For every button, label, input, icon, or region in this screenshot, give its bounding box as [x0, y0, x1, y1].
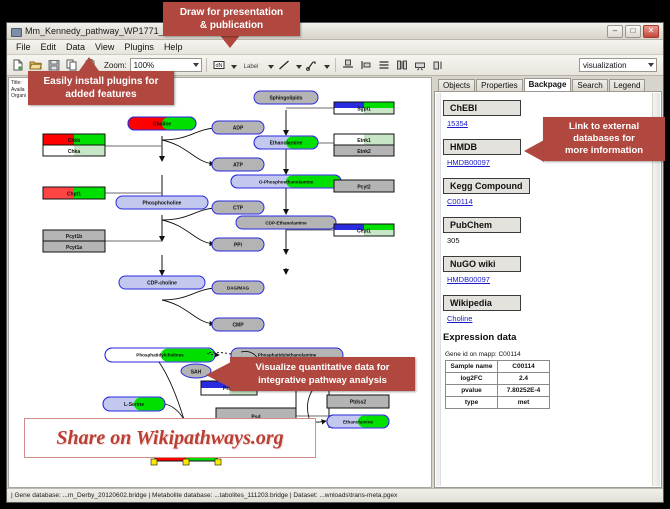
- window-titlebar: Mm_Kennedy_pathway_WP1771_45176.gpml – □…: [7, 23, 663, 40]
- svg-text:O-Phosphoethanolamine: O-Phosphoethanolamine: [259, 179, 314, 184]
- callout-visualize-line1: Visualize quantitative data for: [237, 361, 408, 374]
- tab-backpage[interactable]: Backpage: [524, 78, 572, 91]
- node-l-serine-left: L-Serine: [103, 397, 165, 411]
- db-section-pubchem: PubChem 305: [443, 215, 661, 245]
- svg-text:PPi: PPi: [234, 243, 243, 249]
- zoom-combo[interactable]: 100%: [130, 58, 202, 72]
- datanode-icon[interactable]: dN: [211, 57, 228, 74]
- backpage-left-rail: [436, 93, 441, 486]
- datanode-dropdown-icon[interactable]: [229, 57, 238, 74]
- node-atp: ATP: [212, 158, 264, 171]
- exp-value-sample: C00114: [498, 361, 550, 373]
- svg-text:Sphingolipids: Sphingolipids: [269, 96, 302, 102]
- svg-text:L-Serine: L-Serine: [124, 402, 144, 408]
- label-dropdown-icon[interactable]: [266, 57, 275, 74]
- callout-links-line2: databases for: [550, 133, 658, 145]
- node-cept1: Cept1: [334, 224, 394, 236]
- visualization-combo[interactable]: visualization: [579, 58, 657, 72]
- node-cmp: CMP: [212, 318, 264, 331]
- node-ethanolamine-top: Ethanolamine: [254, 136, 318, 149]
- db-value-pubchem: 305: [447, 236, 661, 245]
- share-banner-text: Share on Wikipathways.org: [56, 427, 283, 450]
- svg-text:Choline: Choline: [153, 122, 172, 128]
- zoom-value: 100%: [134, 61, 154, 70]
- zoom-label: Zoom:: [104, 61, 127, 70]
- interaction-icon[interactable]: [304, 57, 321, 74]
- statusbar: | Gene database: ...m_Derby_20120602.bri…: [7, 488, 663, 502]
- expression-data-title: Expression data: [443, 332, 661, 343]
- callout-plugins: Easily install plugins for added feature…: [28, 71, 174, 105]
- line-dropdown-icon[interactable]: [294, 57, 303, 74]
- callout-draw-line1: Draw for presentation: [170, 6, 293, 19]
- svg-text:Pcyt1b: Pcyt1b: [66, 234, 82, 240]
- align-left-icon[interactable]: [358, 57, 375, 74]
- svg-text:Ethanolamine: Ethanolamine: [270, 141, 303, 147]
- menu-help[interactable]: Help: [159, 41, 188, 53]
- table-row: pvalue 7.80252E-4: [446, 385, 550, 397]
- tab-legend[interactable]: Legend: [609, 79, 646, 91]
- node-adp: ADP: [212, 121, 264, 134]
- toolbar-divider-2: [335, 58, 336, 72]
- align-top-icon[interactable]: [340, 57, 357, 74]
- exp-label-sample: Sample name: [446, 361, 498, 373]
- expression-table: Sample name C00114 log2FC 2.4 pvalue 7.8…: [445, 360, 550, 409]
- visualization-value: visualization: [583, 61, 627, 70]
- exp-label-type: type: [446, 397, 498, 409]
- node-ppi: PPi: [212, 238, 264, 251]
- new-file-icon[interactable]: [10, 57, 27, 74]
- chevron-down-icon: [193, 63, 199, 67]
- callout-links-line1: Link to external: [550, 121, 658, 133]
- svg-text:dN: dN: [215, 63, 222, 69]
- close-button[interactable]: ✕: [643, 25, 659, 38]
- callout-visualize: Visualize quantitative data for integrat…: [230, 357, 415, 391]
- db-link-wikipedia[interactable]: Choline: [447, 314, 661, 323]
- svg-text:Sgpl1: Sgpl1: [357, 107, 371, 113]
- svg-text:Etnk2: Etnk2: [357, 149, 371, 155]
- callout-draw: Draw for presentation & publication: [163, 2, 300, 36]
- node-pcyt2: Pcyt2: [334, 180, 394, 192]
- size-height-icon[interactable]: [430, 57, 447, 74]
- exp-value-pvalue: 7.80252E-4: [498, 385, 550, 397]
- node-etnk2: Etnk2: [334, 145, 394, 156]
- callout-plugins-line1: Easily install plugins for: [35, 75, 167, 88]
- status-text: | Gene database: ...m_Derby_20120602.bri…: [11, 492, 397, 499]
- svg-text:Pcyt1a: Pcyt1a: [66, 245, 82, 251]
- callout-plugins-line2: added features: [35, 88, 167, 101]
- callout-visualize-arrow-icon: [206, 362, 231, 388]
- node-phosphatidylcholines: Phosphatidylcholines: [105, 348, 215, 362]
- node-cdp-ethanolamine: CDP-Ethanolamine: [236, 216, 336, 229]
- svg-text:SAH: SAH: [191, 370, 202, 376]
- node-dag-mag: DAG/MAG: [212, 281, 264, 294]
- svg-text:Chka: Chka: [68, 149, 80, 155]
- svg-text:Phosphatidylcholines: Phosphatidylcholines: [136, 353, 184, 358]
- node-chkb: Chkb: [43, 134, 105, 145]
- svg-text:Chpt1: Chpt1: [67, 192, 81, 198]
- svg-text:Chkb: Chkb: [68, 138, 81, 144]
- svg-text:ADP: ADP: [233, 126, 244, 132]
- table-row: log2FC 2.4: [446, 373, 550, 385]
- exp-value-log2fc: 2.4: [498, 373, 550, 385]
- exp-label-pvalue: pvalue: [446, 385, 498, 397]
- db-label-wikipedia: Wikipedia: [443, 295, 521, 311]
- callout-visualize-line2: integrative pathway analysis: [237, 374, 408, 387]
- toolbar-divider: [206, 58, 207, 72]
- svg-text:ATP: ATP: [233, 163, 243, 169]
- node-chpt1: Chpt1: [43, 187, 105, 199]
- db-section-kegg: Kegg Compound C00114: [443, 176, 661, 206]
- table-row: Sample name C00114: [446, 361, 550, 373]
- node-phosphocholine: Phosphocholine: [116, 196, 208, 209]
- node-pcyt1a: Pcyt1a: [43, 241, 105, 252]
- callout-links: Link to external databases for more info…: [543, 117, 665, 161]
- node-sphingolipids: Sphingolipids: [254, 91, 318, 104]
- exp-value-type: met: [498, 397, 550, 409]
- svg-text:Ptdss2: Ptdss2: [350, 400, 367, 406]
- svg-text:Cept1: Cept1: [357, 229, 371, 235]
- node-ethanolamine-right: Ethanolamine: [327, 415, 389, 428]
- tab-search[interactable]: Search: [572, 79, 607, 91]
- svg-text:Label: Label: [243, 64, 258, 70]
- db-label-pubchem: PubChem: [443, 217, 521, 233]
- node-chka: Chka: [43, 145, 105, 156]
- menu-plugins[interactable]: Plugins: [119, 41, 159, 53]
- db-section-wikipedia: Wikipedia Choline: [443, 293, 661, 323]
- exp-label-log2fc: log2FC: [446, 373, 498, 385]
- callout-draw-line2: & publication: [170, 19, 293, 32]
- node-ptdss2: Ptdss2: [327, 395, 389, 408]
- align-stack-icon[interactable]: [376, 57, 393, 74]
- svg-text:Etnk1: Etnk1: [357, 138, 371, 144]
- db-section-nugo: NuGO wiki HMDB00097: [443, 254, 661, 284]
- node-etnk1: Etnk1: [334, 134, 394, 145]
- svg-text:DAG/MAG: DAG/MAG: [227, 286, 250, 291]
- menubar: File Edit Data View Plugins Help: [7, 40, 663, 55]
- tab-objects[interactable]: Objects: [438, 79, 475, 91]
- table-row: type met: [446, 397, 550, 409]
- db-label-hmdb: HMDB: [443, 139, 521, 155]
- node-pcyt1b: Pcyt1b: [43, 230, 105, 241]
- window-controls: – □ ✕: [607, 25, 660, 38]
- node-choline-top: Choline: [128, 117, 196, 130]
- chevron-down-icon-2: [648, 63, 654, 67]
- menu-edit[interactable]: Edit: [36, 41, 62, 53]
- svg-text:CDP-choline: CDP-choline: [147, 281, 177, 287]
- pathvisio-icon: [10, 26, 21, 37]
- db-link-kegg[interactable]: C00114: [447, 197, 661, 206]
- node-cdp-choline: CDP-choline: [119, 276, 205, 289]
- share-banner: Share on Wikipathways.org: [24, 418, 316, 458]
- db-link-nugo[interactable]: HMDB00097: [447, 275, 661, 284]
- svg-text:CMP: CMP: [232, 323, 244, 329]
- menu-file[interactable]: File: [11, 41, 36, 53]
- node-sgpl1: Sgpl1: [334, 102, 394, 114]
- db-label-chebi: ChEBI: [443, 100, 521, 116]
- tab-properties[interactable]: Properties: [476, 79, 522, 91]
- right-panel-tabs: Objects Properties Backpage Search Legen…: [434, 77, 662, 91]
- screenshot-root: Mm_Kennedy_pathway_WP1771_45176.gpml – □…: [0, 0, 670, 509]
- size-width-icon[interactable]: [412, 57, 429, 74]
- svg-text:CDP-Ethanolamine: CDP-Ethanolamine: [265, 220, 307, 225]
- svg-text:Ethanolamine: Ethanolamine: [343, 419, 374, 424]
- svg-text:CTP: CTP: [233, 206, 244, 212]
- gene-id-line: Gene id on mapp: C00114: [445, 351, 661, 358]
- interaction-dropdown-icon[interactable]: [322, 57, 331, 74]
- callout-links-line3: more information: [550, 145, 658, 157]
- maximize-button[interactable]: □: [625, 25, 641, 38]
- label-icon[interactable]: Label: [239, 57, 265, 74]
- svg-text:Pcyt2: Pcyt2: [357, 185, 371, 191]
- svg-text:Phosphocholine: Phosphocholine: [143, 201, 182, 207]
- menu-data[interactable]: Data: [61, 41, 90, 53]
- db-label-nugo: NuGO wiki: [443, 256, 521, 272]
- maximize-glyph: □: [631, 27, 636, 35]
- node-o-phosphoethanolamine: O-Phosphoethanolamine: [231, 175, 341, 188]
- db-label-kegg: Kegg Compound: [443, 178, 530, 194]
- callout-links-arrow-icon: [524, 140, 544, 162]
- node-ctp: CTP: [212, 201, 264, 214]
- minimize-button[interactable]: –: [607, 25, 623, 38]
- menu-view[interactable]: View: [90, 41, 119, 53]
- close-glyph: ✕: [648, 27, 655, 35]
- distribute-icon[interactable]: [394, 57, 411, 74]
- minimize-glyph: –: [613, 27, 617, 35]
- line-icon[interactable]: [276, 57, 293, 74]
